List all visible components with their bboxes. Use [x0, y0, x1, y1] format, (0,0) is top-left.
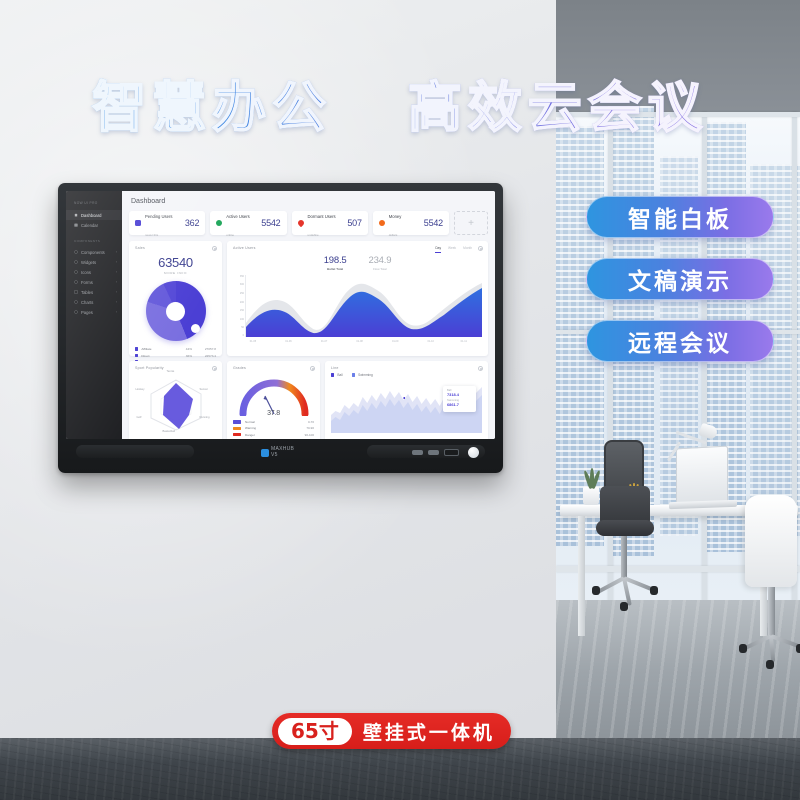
legend-swatch: [331, 373, 334, 376]
layers-icon: [74, 250, 78, 254]
feature-pill-label: 文稿演示: [628, 262, 732, 296]
legend-row: Danger 90-100: [233, 433, 314, 437]
card-title: Sales: [135, 246, 216, 250]
dashboard-sidebar: NOW UI PRO Dashboard Calendar COMPONENTS…: [66, 191, 122, 439]
kpi-subtitle: online: [226, 233, 234, 237]
radar-axis-label: Golf: [137, 416, 142, 419]
kpi-value: 5542: [424, 218, 443, 228]
y-tick: 350: [240, 275, 244, 278]
kpi-value: 362: [185, 218, 199, 228]
kpi-title: Dormant Users: [308, 214, 336, 219]
sidebar-section-header: COMPONENTS: [66, 230, 122, 247]
legend-name: Direct: [141, 354, 176, 358]
display-bezel-bottom: MAXHUB V5: [66, 439, 495, 465]
active-users-stats: 198.5 Bullet Total 234.9 Flow Total: [233, 255, 482, 271]
y-axis: 350 300 250 200 150 100 50 0: [233, 275, 244, 337]
legend-range: 70-90: [306, 426, 314, 430]
coin-icon: [379, 220, 385, 226]
card-title: Line: [331, 366, 482, 370]
kpi-title: Pending Users: [145, 214, 172, 219]
home-icon: [74, 213, 78, 217]
x-tick: 01-07: [321, 340, 327, 343]
chevron-right-icon: ›: [116, 310, 117, 314]
chair-caster: [739, 644, 747, 653]
line-chart-card: Line Ball Swimming: [325, 361, 488, 439]
kpi-subtitle: dollars: [389, 233, 398, 237]
chair-caster: [650, 586, 658, 595]
y-tick: 200: [240, 301, 244, 304]
dashboard-content: Dashboard Pending Users newer this 362: [122, 191, 495, 439]
sidebar-item-label: Dashboard: [81, 213, 102, 218]
gear-icon[interactable]: [212, 246, 217, 251]
legend-item-ball[interactable]: Ball: [331, 373, 343, 377]
line-chart-legend: Ball Swimming: [331, 373, 482, 377]
kpi-text: Active Users online: [226, 205, 261, 241]
y-tick: 250: [240, 292, 244, 295]
square-icon: [135, 220, 141, 226]
sidebar-item-charts[interactable]: Charts ›: [66, 297, 122, 307]
legend-swatch: [352, 373, 355, 376]
sidebar-item-pages[interactable]: Pages ›: [66, 307, 122, 317]
y-tick: 150: [240, 309, 244, 312]
chart-row-primary: Sales 63540 MORE INFO Affiliate 44%: [129, 241, 488, 356]
legend-range: 0-70: [308, 420, 314, 424]
page-headline: 智慧办公 高效云会议: [0, 63, 800, 142]
volume-up-button[interactable]: [428, 450, 439, 455]
chevron-right-icon: ›: [116, 280, 117, 284]
radar-chart-svg: [137, 372, 215, 432]
tab-month[interactable]: Month: [463, 246, 472, 253]
x-axis: 01-05 01-06 01-07 01-08 01-09 01-10 01-1…: [245, 340, 482, 347]
x-tick: 01-06: [285, 340, 291, 343]
sidebar-item-tables[interactable]: Tables ›: [66, 287, 122, 297]
legend-swatch: [135, 347, 138, 350]
x-tick: 01-08: [356, 340, 362, 343]
stat-value: 198.5: [324, 255, 347, 266]
x-tick: 01-10: [427, 340, 433, 343]
kpi-card-money[interactable]: Money dollars 5542: [373, 211, 449, 235]
wall-mounted-display: NOW UI PRO Dashboard Calendar COMPONENTS…: [58, 183, 503, 473]
stat-label: Flow Total: [369, 267, 392, 271]
chair-caster: [592, 586, 600, 595]
desk-leg: [578, 516, 585, 636]
display-screen: NOW UI PRO Dashboard Calendar COMPONENTS…: [66, 191, 495, 439]
kpi-card-row: Pending Users newer this 362 Active User…: [129, 211, 488, 235]
heart-icon: [296, 219, 304, 227]
chair-caster: [620, 602, 628, 611]
page-title: Dashboard: [131, 198, 488, 205]
tooltip-value: 6861.7: [447, 402, 472, 407]
plot-area: [245, 275, 482, 337]
tab-day[interactable]: Day: [435, 246, 441, 253]
kpi-title: Money: [389, 214, 402, 219]
sidebar-item-forms[interactable]: Forms ›: [66, 277, 122, 287]
stat-value: 234.9: [369, 255, 392, 266]
office-chair-white-arm: [728, 545, 750, 587]
chevron-right-icon: ›: [116, 250, 117, 254]
tooltip-value: 7318.4: [447, 392, 472, 397]
logo-text: MAXHUB V5: [271, 447, 294, 458]
legend-name: Normal: [245, 420, 255, 424]
sidebar-item-label: Charts: [81, 300, 93, 305]
office-chair-dark-seat: [596, 520, 654, 536]
feature-pill-label: 远程会议: [628, 324, 732, 358]
sidebar-item-label: Calendar: [81, 223, 98, 228]
feature-pill-list: 智能白板 文稿演示 远程会议: [586, 196, 786, 382]
logo-mark-icon: [261, 449, 269, 457]
feature-pill-label: 智能白板: [628, 200, 732, 234]
grades-gauge-card: Grades: [227, 361, 320, 439]
kpi-text: Dormant Users undefine: [308, 205, 348, 241]
sidebar-item-icons[interactable]: Icons ›: [66, 267, 122, 277]
sidebar-item-label: Components: [81, 250, 105, 255]
legend-row: Affiliate 44% 27057.8: [135, 347, 216, 351]
gauge-value: 37.8: [237, 410, 311, 417]
table-icon: [74, 290, 78, 294]
add-card-button[interactable]: +: [454, 211, 488, 235]
timeframe-tabs: Day Week Month: [435, 246, 472, 253]
gauge-chart: 37.8: [237, 374, 311, 416]
chevron-right-icon: ›: [116, 300, 117, 304]
gear-icon[interactable]: [478, 366, 483, 371]
legend-range: 90-100: [305, 433, 314, 437]
legend-swatch: [233, 420, 241, 423]
radar-chart: Tennis Soccer Running Basketball Golf Ho…: [137, 372, 215, 439]
radar-axis-label: Basketball: [163, 430, 175, 433]
chair-caster: [796, 644, 800, 653]
kpi-text: Pending Users newer this: [145, 205, 185, 241]
chevron-right-icon: ›: [116, 270, 117, 274]
active-users-area-chart: 350 300 250 200 150 100 50 0: [233, 275, 482, 347]
donut-notch: [191, 324, 200, 333]
page-icon: [74, 310, 78, 314]
sidebar-brand: NOW UI PRO: [66, 198, 122, 210]
legend-name: Ball: [337, 373, 342, 377]
circle-icon: [216, 220, 222, 226]
form-icon: [74, 280, 78, 284]
y-tick: 100: [240, 318, 244, 321]
sport-popularity-card: Sport Popularity Tennis Soccer Running: [129, 361, 222, 439]
gear-icon[interactable]: [212, 366, 217, 371]
chevron-right-icon: ›: [116, 260, 117, 264]
widget-icon: [74, 260, 78, 264]
feature-pill-whiteboard[interactable]: 智能白板: [586, 196, 774, 238]
gauge-legend: Normal 0-70 Warning 70-90 Danger: [233, 420, 314, 437]
legend-row: Normal 0-70: [233, 420, 314, 424]
legend-value: 27057.8: [192, 347, 216, 351]
sidebar-item-label: Pages: [81, 310, 93, 315]
office-chair-dark-stem: [621, 536, 627, 578]
legend-swatch: [135, 354, 138, 357]
legend-name: Swimming: [358, 373, 373, 377]
volume-down-button[interactable]: [412, 450, 423, 455]
sales-card: Sales 63540 MORE INFO Affiliate 44%: [129, 241, 222, 356]
card-title: Grades: [233, 366, 314, 370]
sales-donut-chart: [146, 281, 206, 341]
y-tick: 300: [240, 283, 244, 286]
active-users-card: Active Users Day Week Month 198.5 Bullet…: [227, 241, 488, 356]
stat-bullet-total: 198.5 Bullet Total: [324, 255, 347, 271]
stat-flow-total: 234.9 Flow Total: [369, 255, 392, 271]
card-title: Sport Popularity: [135, 366, 216, 370]
feature-pill-presentation[interactable]: 文稿演示: [586, 258, 774, 300]
office-chair-white-stem: [768, 587, 775, 635]
legend-percent: 36%: [176, 354, 192, 358]
sidebar-item-calendar[interactable]: Calendar: [66, 220, 122, 230]
plant-pot: [583, 487, 599, 505]
stat-label: Bullet Total: [324, 267, 347, 271]
sales-total: 63540: [135, 255, 216, 270]
kpi-card-pending-users[interactable]: Pending Users newer this 362: [129, 211, 205, 235]
x-tick: 01-05: [250, 340, 256, 343]
sidebar-item-label: Forms: [81, 280, 93, 285]
kpi-value: 507: [347, 218, 361, 228]
chart-tooltip: Ball 7318.4 Swimming 6861.7: [443, 386, 476, 412]
sidebar-item-dashboard[interactable]: Dashboard: [66, 210, 122, 220]
chevron-right-icon: ›: [116, 290, 117, 294]
legend-percent: 44%: [176, 347, 192, 351]
sidebar-item-label: Widgets: [81, 260, 96, 265]
legend-item-swimming[interactable]: Swimming: [352, 373, 373, 377]
chair-caster: [766, 660, 774, 669]
product-size-label: 65寸: [278, 718, 352, 745]
legend-value: 22573.4: [192, 354, 216, 358]
legend-name: Warning: [245, 426, 256, 430]
sidebar-item-label: Tables: [81, 290, 93, 295]
kpi-value: 5542: [261, 218, 280, 228]
x-tick: 01-11: [461, 340, 467, 343]
kpi-card-dormant-users[interactable]: Dormant Users undefine 507: [292, 211, 368, 235]
kpi-card-active-users[interactable]: Active Users online 5542: [210, 211, 286, 235]
laptop-screen: [676, 446, 728, 507]
brand-logo: MAXHUB V5: [261, 447, 301, 458]
kpi-subtitle: newer this: [145, 233, 158, 237]
chart-icon: [74, 300, 78, 304]
kpi-text: Money dollars: [389, 205, 424, 241]
legend-name: Danger: [245, 433, 255, 437]
gear-icon[interactable]: [478, 246, 483, 251]
legend-row: Direct 36% 22573.4: [135, 354, 216, 358]
chart-row-secondary: Sport Popularity Tennis Soccer Running: [129, 361, 488, 439]
kpi-title: Active Users: [226, 214, 250, 219]
sidebar-item-components[interactable]: Components ›: [66, 247, 122, 257]
gear-icon[interactable]: [310, 366, 315, 371]
kpi-subtitle: undefine: [308, 233, 319, 237]
radar-axis-label: Hockey: [136, 388, 145, 391]
radar-axis-label: Running: [200, 416, 210, 419]
speaker-grille-left: [76, 445, 194, 458]
x-tick: 01-09: [392, 340, 398, 343]
input-port[interactable]: [444, 449, 459, 456]
power-button[interactable]: [468, 447, 479, 458]
radar-axis-label: Soccer: [200, 388, 208, 391]
headline-part-2: 高效云会议: [408, 76, 708, 139]
sales-more-info[interactable]: MORE INFO: [135, 271, 216, 275]
area-chart-svg: [246, 275, 482, 337]
legend-swatch: [233, 427, 241, 430]
tab-week[interactable]: Week: [448, 246, 456, 253]
data-point-marker: [403, 397, 405, 399]
line-chart-plot: Ball 7318.4 Swimming 6861.7: [331, 379, 482, 439]
y-tick: 0: [243, 334, 244, 337]
calendar-icon: [74, 223, 78, 227]
dashboard-app: NOW UI PRO Dashboard Calendar COMPONENTS…: [66, 191, 495, 439]
sidebar-item-widgets[interactable]: Widgets ›: [66, 257, 122, 267]
sidebar-item-label: Icons: [81, 270, 91, 275]
logo-text-line2: V5: [271, 452, 278, 458]
star-icon: [74, 270, 78, 274]
legend-name: Affiliate: [141, 347, 176, 351]
headline-part-1: 智慧办公: [92, 76, 332, 139]
y-tick: 50: [241, 326, 244, 329]
product-type-label: 壁挂式一体机: [363, 718, 495, 745]
legend-swatch: [233, 433, 241, 436]
office-chair-white-back: [745, 495, 797, 587]
legend-row: Warning 70-90: [233, 426, 314, 430]
product-badge: 65寸 壁挂式一体机: [272, 713, 511, 749]
feature-pill-remote-meeting[interactable]: 远程会议: [586, 320, 774, 362]
radar-axis-label: Tennis: [167, 370, 175, 373]
